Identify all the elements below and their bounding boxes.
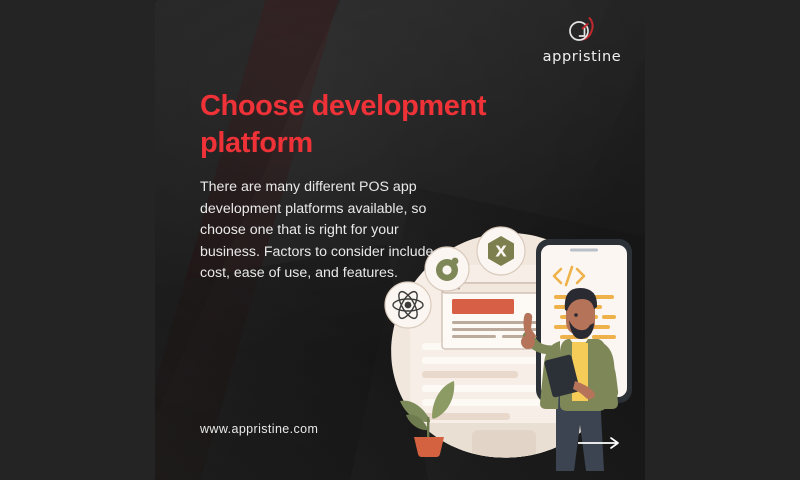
appristine-circle-arc-logo-icon: [565, 14, 599, 48]
page-title: Choose development platform: [200, 88, 550, 161]
body-paragraph: There are many different POS app develop…: [200, 177, 445, 285]
poster-canvas: X: [0, 0, 800, 480]
brand-wordmark: appristine: [543, 49, 622, 65]
headline-line-2: platform: [200, 125, 550, 162]
arrow-right-icon[interactable]: [577, 436, 623, 450]
svg-text:X: X: [495, 243, 507, 261]
react-badge: [385, 282, 431, 328]
xamarin-badge: X: [477, 227, 525, 275]
headline-line-1: Choose development: [200, 90, 486, 122]
letterbox-right: [645, 0, 800, 480]
website-url[interactable]: www.appristine.com: [200, 422, 318, 436]
poster-panel: X: [155, 0, 645, 480]
brand-logo[interactable]: appristine: [539, 14, 625, 65]
letterbox-left: [0, 0, 155, 480]
